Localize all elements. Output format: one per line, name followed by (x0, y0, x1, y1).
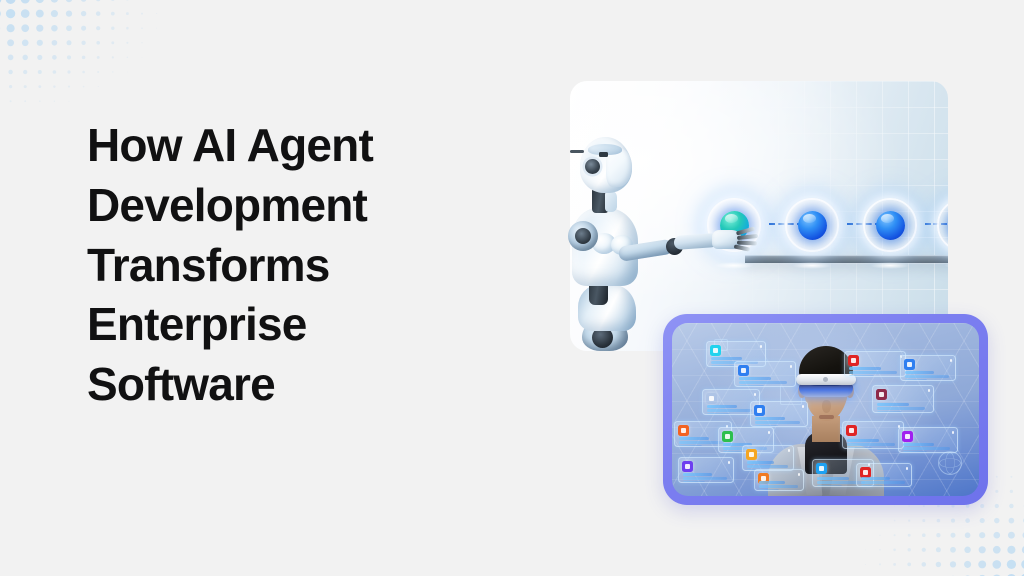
floating-ui-card (842, 421, 904, 449)
card-text-bar (711, 365, 735, 367)
orb-3 (863, 198, 917, 252)
tablet-screen (672, 323, 979, 496)
card-text-bar (679, 437, 709, 440)
halftone-dots-top-left (0, 0, 180, 119)
title-line-5: Software (87, 355, 507, 415)
card-text-bar (707, 405, 737, 408)
card-status-dot (728, 461, 731, 464)
maroon-home-icon (876, 389, 887, 400)
card-text-bar (849, 367, 881, 370)
cyan-app-icon (710, 345, 721, 356)
title-line-2: Development (87, 176, 507, 236)
floating-ui-card (898, 427, 958, 453)
card-text-bar (747, 461, 774, 464)
card-text-bar (847, 443, 895, 446)
card-text-bar (877, 403, 909, 406)
orb-platform (745, 255, 948, 263)
card-status-dot (906, 467, 909, 470)
card-status-dot (952, 431, 955, 434)
card-text-bar (739, 381, 787, 384)
card-status-dot (790, 365, 793, 368)
card-text-bar (905, 379, 927, 381)
red-close-icon (848, 355, 859, 366)
yellow-app-icon (706, 393, 717, 404)
floating-ui-card (734, 361, 796, 387)
card-text-bar (847, 447, 872, 449)
amber-download-icon (746, 449, 757, 460)
card-status-dot (802, 405, 805, 408)
title-line-3: Transforms (87, 236, 507, 296)
robot-ear-sensor (585, 159, 600, 174)
card-text-bar (861, 481, 905, 484)
card-text-bar (905, 371, 934, 374)
card-text-bar (739, 385, 764, 387)
card-text-bar (683, 477, 727, 480)
floating-ui-card (844, 351, 906, 377)
violet-plus-icon (682, 461, 693, 472)
card-text-bar (707, 413, 730, 415)
blue-add-icon (904, 359, 915, 370)
card-text-bar (747, 465, 788, 468)
card-text-bar (849, 371, 897, 374)
card-text-bar (755, 421, 800, 424)
ar-glasses-illustration (663, 314, 988, 505)
card-text-bar (903, 451, 927, 453)
card-text-bar (817, 477, 849, 480)
floating-ui-card (750, 401, 808, 427)
card-text-bar (759, 489, 779, 491)
floating-ui-card (872, 385, 934, 413)
card-text-bar (905, 375, 949, 378)
orb-2 (785, 198, 839, 252)
floating-ui-card (856, 463, 912, 487)
card-text-bar (849, 375, 874, 377)
card-text-bar (755, 417, 785, 420)
card-status-dot (798, 473, 801, 476)
card-status-dot (768, 431, 771, 434)
robot-antenna (570, 150, 584, 153)
green-app-icon (722, 431, 733, 442)
card-text-bar (683, 481, 705, 483)
globe-glyph-icon (938, 451, 962, 475)
card-text-bar (711, 357, 742, 360)
floating-ui-card (900, 355, 956, 381)
title-line-1: How AI Agent (87, 116, 507, 176)
title-line-4: Enterprise (87, 295, 507, 355)
page-title: How AI Agent Development Transforms Ente… (87, 116, 507, 415)
robot-shoulder-joint (568, 221, 598, 251)
floating-ui-card (754, 469, 804, 491)
card-status-dot (928, 389, 931, 392)
card-text-bar (739, 377, 771, 380)
floating-ui-card (742, 445, 794, 471)
card-text-bar (877, 407, 925, 410)
card-status-dot (754, 393, 757, 396)
card-text-bar (817, 485, 842, 487)
cyan-bird-icon (816, 463, 827, 474)
card-text-bar (679, 445, 702, 447)
card-text-bar (877, 411, 902, 413)
card-text-bar (903, 443, 934, 446)
card-status-dot (950, 359, 953, 362)
card-text-bar (759, 485, 798, 488)
card-text-bar (861, 485, 883, 487)
purple-app-icon (902, 431, 913, 442)
card-text-bar (683, 473, 712, 476)
card-status-dot (788, 449, 791, 452)
card-text-bar (903, 447, 950, 450)
card-text-bar (707, 409, 752, 412)
blue-plus-icon (754, 405, 765, 416)
card-text-bar (759, 481, 785, 484)
humanoid-robot-figure (562, 135, 682, 350)
ar-visor (799, 384, 853, 397)
blue-app-icon (738, 365, 749, 376)
orange-app-icon (678, 425, 689, 436)
red-image-icon (846, 425, 857, 436)
card-text-bar (847, 439, 879, 442)
floating-ui-card (678, 457, 734, 483)
card-status-dot (760, 345, 763, 348)
card-text-bar (861, 477, 890, 480)
